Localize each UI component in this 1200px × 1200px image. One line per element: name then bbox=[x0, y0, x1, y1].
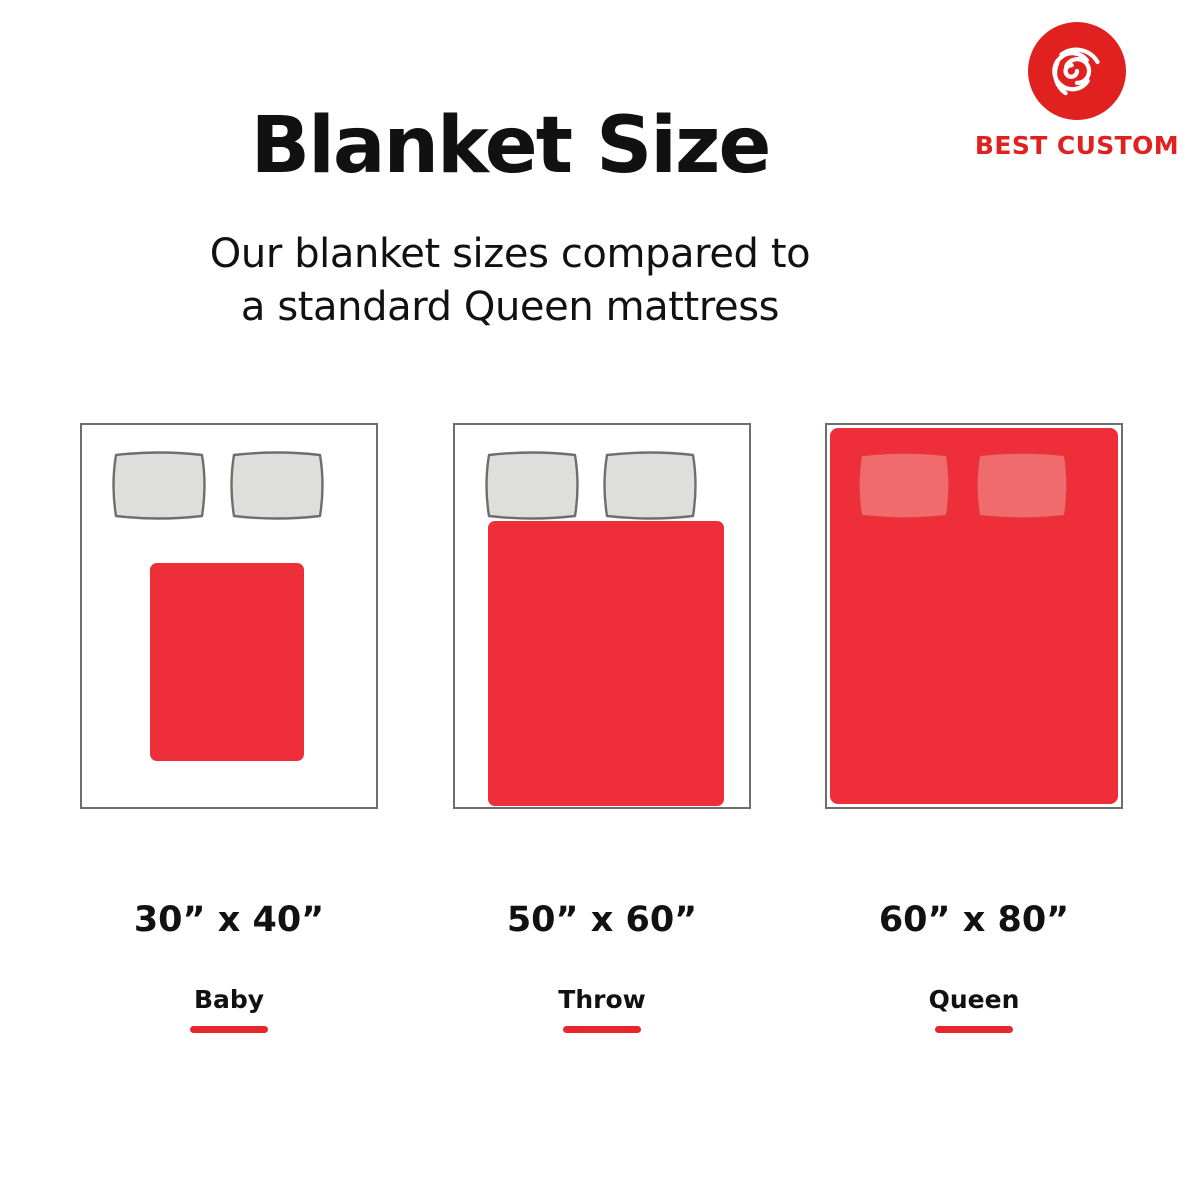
caption-throw: 50” x 60” Throw bbox=[453, 900, 751, 1033]
pillow-icon bbox=[599, 449, 701, 522]
bed-name-label: Baby bbox=[80, 985, 378, 1014]
page-subtitle: Our blanket sizes compared to a standard… bbox=[0, 228, 1200, 334]
accent-underline bbox=[190, 1026, 268, 1033]
bed-diagram-queen bbox=[825, 423, 1123, 809]
accent-underline bbox=[563, 1026, 641, 1033]
pillow-icon bbox=[108, 449, 210, 522]
subtitle-line-1: Our blanket sizes compared to bbox=[0, 228, 1020, 281]
page-title: Blanket Size bbox=[0, 107, 1200, 185]
subtitle-line-2: a standard Queen mattress bbox=[0, 281, 1020, 334]
accent-underline bbox=[935, 1026, 1013, 1033]
caption-baby: 30” x 40” Baby bbox=[80, 900, 378, 1033]
bed-diagram-baby bbox=[80, 423, 378, 809]
bed-name-label: Queen bbox=[825, 985, 1123, 1014]
pillow-icon bbox=[481, 449, 583, 522]
pillow-icon bbox=[853, 449, 955, 522]
size-label: 30” x 40” bbox=[80, 900, 378, 940]
pillow-icon bbox=[226, 449, 328, 522]
blanket-shape-baby bbox=[150, 563, 304, 761]
size-label: 50” x 60” bbox=[453, 900, 751, 940]
blanket-shape-throw bbox=[488, 521, 724, 806]
size-label: 60” x 80” bbox=[825, 900, 1123, 940]
bed-name-label: Throw bbox=[453, 985, 751, 1014]
bed-diagram-throw bbox=[453, 423, 751, 809]
pillow-icon bbox=[971, 449, 1073, 522]
caption-queen: 60” x 80” Queen bbox=[825, 900, 1123, 1033]
blanket-size-infographic: BEST CUSTOM Blanket Size Our blanket siz… bbox=[0, 0, 1200, 1200]
fingerprint-icon bbox=[1028, 22, 1126, 120]
